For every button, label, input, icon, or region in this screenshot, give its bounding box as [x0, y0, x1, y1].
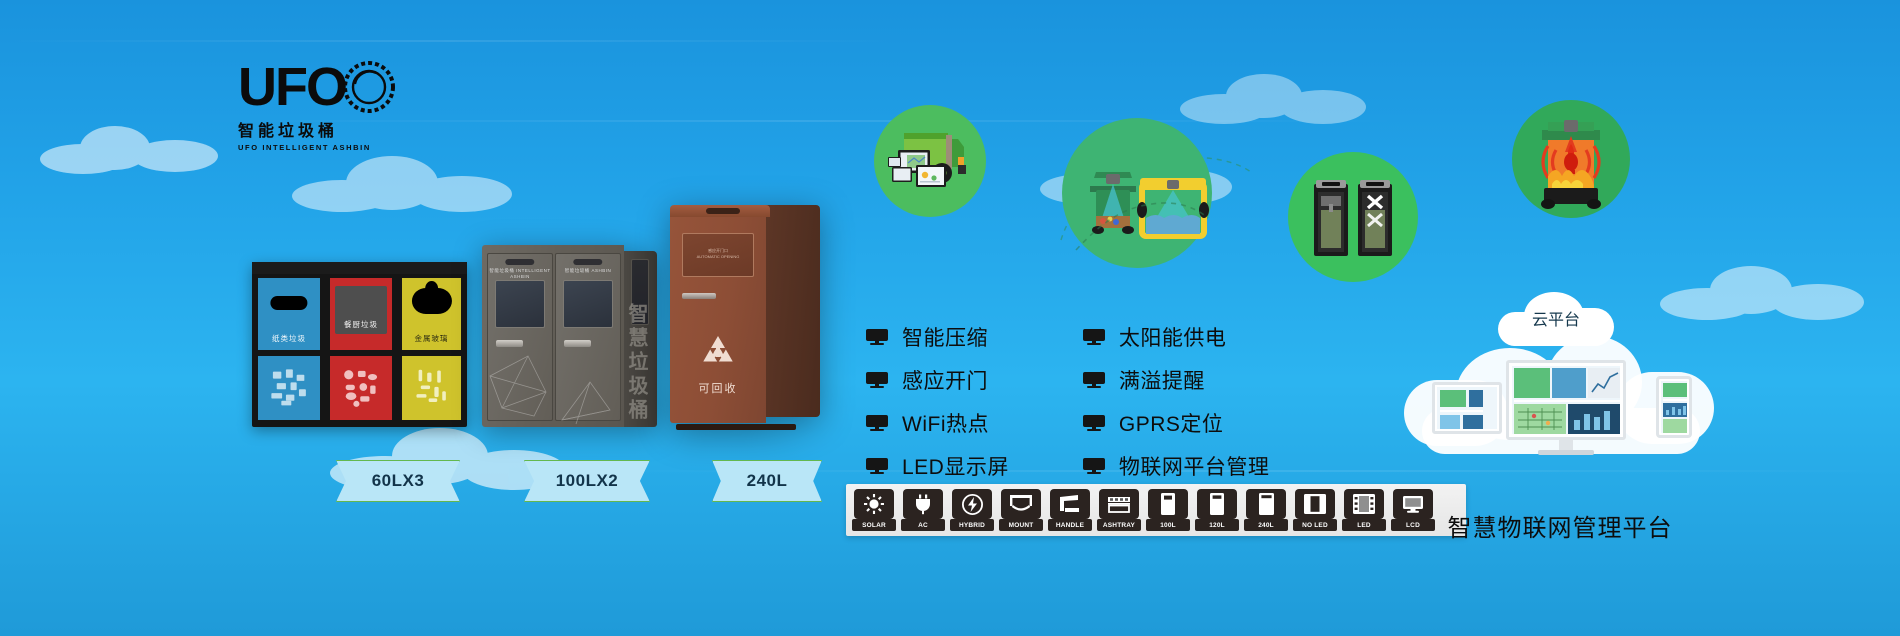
tablet-device: [1432, 382, 1502, 434]
feature-column-1: 智能压缩 感应开门 WiFi热点 LED显示屏: [866, 322, 1009, 481]
bin-display-screen: [563, 280, 613, 328]
feature-item: 感应开门: [866, 365, 1009, 395]
garbage-truck-with-devices-icon: [874, 105, 986, 217]
line-chart-graphic: [1590, 370, 1620, 396]
monitor-icon: [1083, 415, 1105, 431]
bin-screen-text-en: AUTOMATIC OPENING: [683, 254, 753, 260]
spec-chip-ac: AC: [901, 489, 945, 531]
waste-slot-round: [411, 288, 451, 314]
spec-chip-label: ASHTRAY: [1097, 519, 1141, 531]
spec-chip-label: LED: [1342, 519, 1386, 531]
monitor-icon: [1083, 458, 1105, 474]
recycle-label: 可回收: [670, 380, 766, 396]
bin-handle: [682, 293, 716, 299]
feature-list: 智能压缩 感应开门 WiFi热点 LED显示屏 太阳能供电 满溢提醒: [866, 322, 1269, 481]
logo-name-en: UFO INTELLIGENT ASHBIN: [238, 143, 373, 152]
no-led-panel-icon: [1303, 493, 1327, 515]
bin-vertical-text: 智慧垃圾桶: [622, 303, 651, 423]
circle-fill-level-sensor: [1062, 118, 1212, 268]
decorative-polygon-graphic: [488, 346, 554, 424]
spec-chip-100l: 100L: [1146, 489, 1190, 531]
bin-panel-text: 智能垃圾桶 ASHBIN: [556, 268, 620, 274]
compartment-label: 餐厨垃圾: [330, 319, 392, 330]
smartphone-device: [1656, 376, 1692, 438]
iot-platform-illustration: 云平台: [1410, 290, 1710, 480]
wall-mount-icon: [1009, 494, 1033, 514]
bin-240l-icon: [1258, 492, 1275, 516]
bin-panel-text: 智能垃圾桶 INTELLIGENT ASHBIN: [488, 268, 552, 279]
lid-vent: [706, 208, 740, 214]
bin-display-screen: 感应开门口 AUTOMATIC OPENING: [682, 233, 754, 277]
desktop-monitor-device: [1506, 360, 1626, 455]
feature-item: 满溢提醒: [1083, 365, 1270, 395]
monitor-icon: [866, 372, 888, 388]
bin-100l-icon: [1160, 492, 1176, 516]
circle-fleet-management: [874, 105, 986, 217]
fire-alarm-bin-icon: [1512, 100, 1630, 218]
monitor-icon: [866, 329, 888, 345]
platform-caption: 智慧物联网管理平台: [1400, 508, 1720, 543]
feature-label: LED显示屏: [902, 451, 1009, 481]
bin-display-screen: [495, 280, 545, 328]
bar-chart-graphic: [1664, 404, 1687, 416]
compartment-label: 金属玻璃: [402, 333, 461, 344]
twin-bin-compactor-icon: [1288, 152, 1418, 282]
spec-chip-label: NO LED: [1293, 519, 1337, 531]
sky-streak: [0, 40, 900, 42]
circle-fire-alarm: [1512, 100, 1630, 218]
food-waste-graphic: [338, 364, 384, 410]
feature-item: WiFi热点: [866, 408, 1009, 438]
monitor-icon: [1083, 372, 1105, 388]
spec-option-strip: SOLAR AC HYBRID MOUNT: [846, 484, 1466, 536]
product-bin-twin-gray: 智能垃圾桶 INTELLIGENT ASHBIN 智能垃圾桶 ASHBIN 智慧…: [482, 245, 657, 427]
hybrid-power-icon: [961, 493, 984, 516]
spec-chip-mount: MOUNT: [999, 489, 1043, 531]
spec-chip-label: SOLAR: [852, 519, 896, 531]
compartment-label: 纸类垃圾: [258, 333, 320, 344]
feature-item: 物联网平台管理: [1083, 451, 1270, 481]
map-graphic: [1516, 406, 1564, 432]
spec-chip-ashtray: ASHTRAY: [1097, 489, 1141, 531]
recycle-icon: [670, 333, 766, 382]
paper-waste-graphic: [266, 364, 312, 410]
capacity-banner: 240L: [712, 460, 822, 502]
bin-handle: [564, 340, 591, 347]
sun-icon: [863, 493, 885, 515]
logo-wordmark: UFO: [238, 62, 346, 112]
ashtray-icon: [1106, 494, 1132, 514]
decorative-polygon-graphic: [556, 366, 622, 428]
decorative-cloud: [40, 118, 240, 178]
monitor-icon: [866, 415, 888, 431]
bar-chart-graphic: [1570, 406, 1620, 432]
feature-item: 太阳能供电: [1083, 322, 1270, 352]
spec-chip-label: 120L: [1195, 519, 1239, 531]
decorative-cloud: [292, 150, 522, 220]
feature-label: 物联网平台管理: [1119, 451, 1270, 481]
spec-chip-hybrid: HYBRID: [950, 489, 994, 531]
feature-label: 感应开门: [902, 365, 988, 395]
led-panel-icon: [1352, 493, 1376, 515]
spec-chip-led: LED: [1342, 489, 1386, 531]
feature-column-2: 太阳能供电 满溢提醒 GPRS定位 物联网平台管理: [1083, 322, 1270, 481]
spec-chip-label: AC: [901, 519, 945, 531]
bin-fill-sensor-icon: [1062, 118, 1212, 268]
bin-120l-icon: [1209, 492, 1225, 516]
spec-chip-no-led: NO LED: [1293, 489, 1337, 531]
monitor-icon: [866, 458, 888, 474]
spec-chip-solar: SOLAR: [852, 489, 896, 531]
spec-chip-label: HANDLE: [1048, 519, 1092, 531]
brand-logo: UFO 智能垃圾桶 UFO INTELLIGENT ASHBIN: [238, 60, 373, 152]
monitor-icon: [1083, 329, 1105, 345]
feature-item: GPRS定位: [1083, 408, 1270, 438]
spec-chip-120l: 120L: [1195, 489, 1239, 531]
feature-item: 智能压缩: [866, 322, 1009, 352]
waste-slot-oval: [270, 296, 307, 310]
feature-item: LED显示屏: [866, 451, 1009, 481]
dashboard-screen: [1512, 366, 1620, 434]
spec-chip-label: HYBRID: [950, 519, 994, 531]
spec-chip-handle: HANDLE: [1048, 489, 1092, 531]
product-bin-3compartment: 纸类垃圾 餐厨垃圾: [252, 262, 467, 427]
metal-glass-waste-graphic: [410, 364, 453, 407]
feature-label: 满溢提醒: [1119, 365, 1205, 395]
feature-label: GPRS定位: [1119, 408, 1224, 438]
logo-name-cn: 智能垃圾桶: [238, 117, 373, 141]
circle-compaction: [1288, 152, 1418, 282]
spec-chip-label: 100L: [1146, 519, 1190, 531]
feature-label: WiFi热点: [902, 408, 989, 438]
product-bin-single-brown: 感应开门口 AUTOMATIC OPENING 可回收: [670, 205, 820, 427]
capacity-banner: 100LX2: [524, 460, 650, 502]
power-plug-icon: [912, 493, 934, 515]
banner-canvas: UFO 智能垃圾桶 UFO INTELLIGENT ASHBIN 纸类垃圾: [0, 0, 1900, 636]
ufo-ring-icon: [342, 60, 396, 114]
spec-chip-240l: 240L: [1244, 489, 1288, 531]
capacity-banner: 60LX3: [336, 460, 460, 502]
spec-chip-label: MOUNT: [999, 519, 1043, 531]
spec-chip-label: 240L: [1244, 519, 1288, 531]
handle-icon: [1058, 494, 1082, 514]
feature-label: 太阳能供电: [1119, 322, 1227, 352]
feature-label: 智能压缩: [902, 322, 988, 352]
cloud-platform-label: 云平台: [1498, 306, 1614, 330]
